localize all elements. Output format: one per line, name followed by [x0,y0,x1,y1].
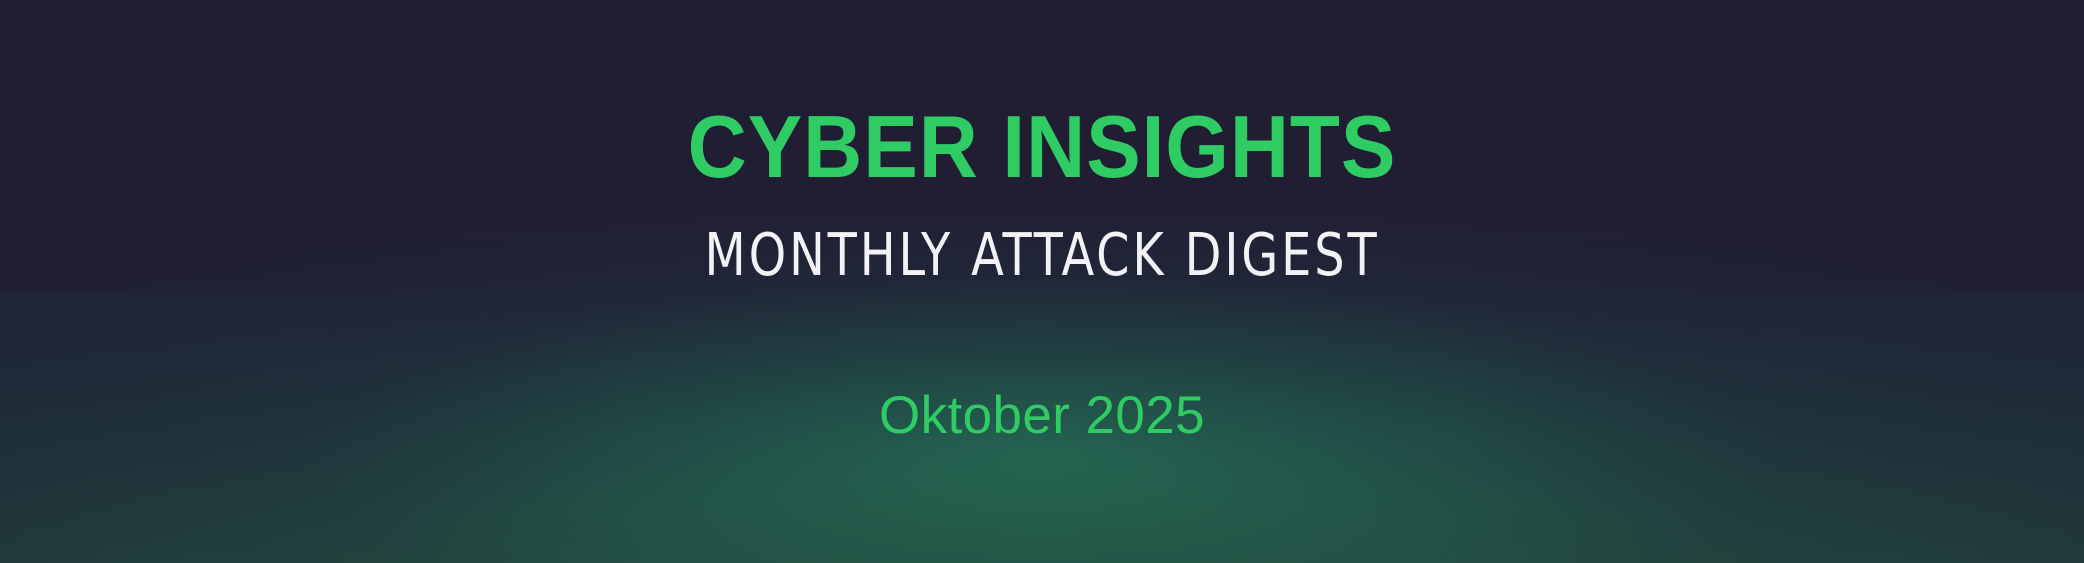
banner-content: CYBER INSIGHTS MONTHLY ATTACK DIGEST Okt… [0,0,2084,563]
cyber-insights-banner: CYBER INSIGHTS MONTHLY ATTACK DIGEST Okt… [0,0,2084,563]
issue-date: Oktober 2025 [0,389,2084,442]
page-title: CYBER INSIGHTS [73,103,2011,191]
page-subtitle: MONTHLY ATTACK DIGEST [104,225,1980,284]
